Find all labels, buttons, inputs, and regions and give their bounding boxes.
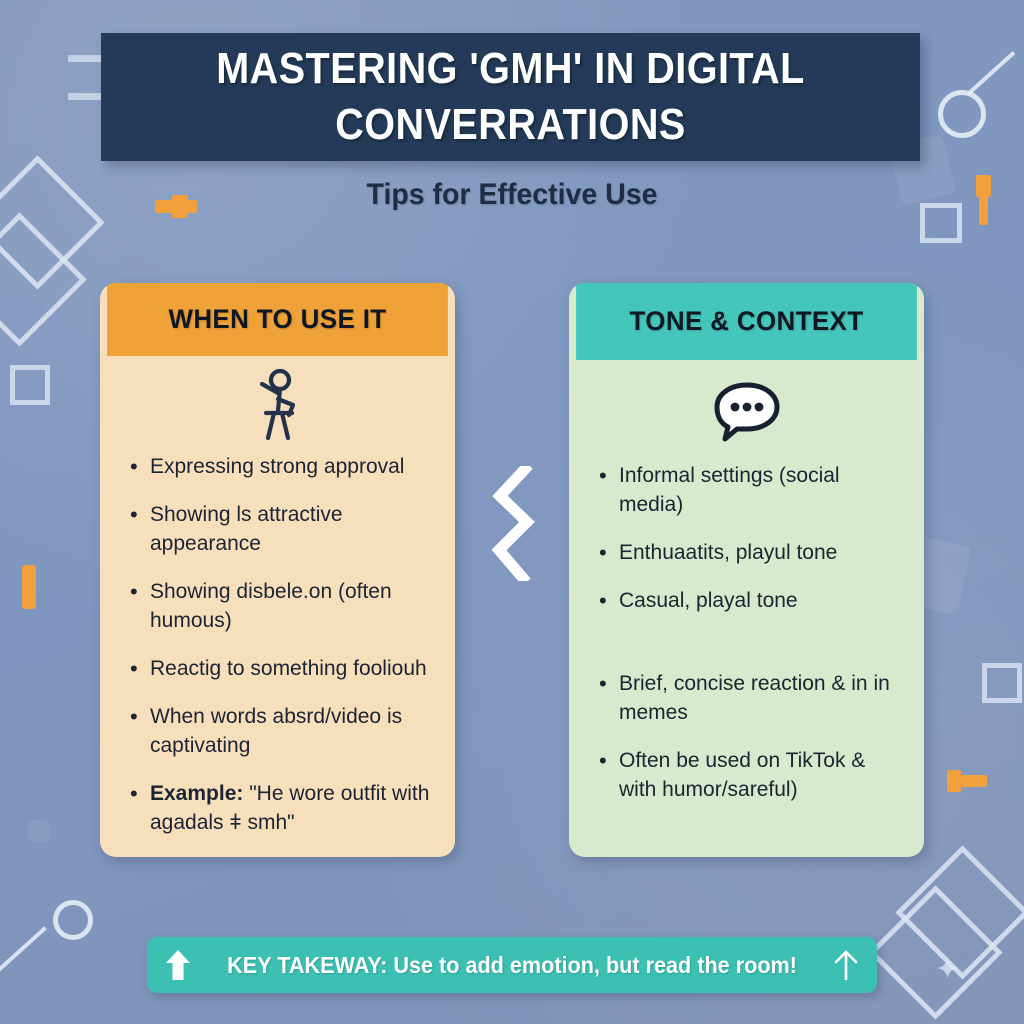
list-item: Expressing strong approval	[128, 453, 435, 482]
list-item: Casual, playal tone	[597, 587, 904, 616]
title-banner: MASTERING 'GMH' IN DIGITAL CONVERRATIONS	[101, 33, 920, 161]
bullet-text: Casual, playal tone	[619, 589, 798, 612]
decor-diamond-left-top	[0, 155, 105, 289]
bullet-text: Reactig to something fooliouh	[150, 657, 427, 680]
list-item-example: Example: "He wore outfit with agadals ǂ …	[128, 780, 435, 838]
card-right-header: TONE & CONTEXT	[576, 283, 917, 360]
list-item: Showing disbele.on (often humous)	[128, 578, 435, 636]
bullet-text: Often be used on TikTok & with humor/sar…	[619, 749, 865, 801]
decor-diamond-left-mid	[0, 212, 87, 346]
bullet-text: Enthuaatits, playul tone	[619, 541, 837, 564]
list-item: Often be used on TikTok & with humor/sar…	[597, 747, 904, 805]
decor-square-left	[10, 365, 50, 405]
zigzag-divider-icon	[487, 466, 547, 581]
list-item: Brief, concise reaction & in in memes	[597, 670, 904, 728]
card-left-header: WHEN TO USE IT	[107, 283, 448, 356]
decor-diamond-right-bottom-2	[868, 885, 1002, 1019]
bullet-text: Expressing strong approval	[150, 455, 404, 478]
decor-stick-top-right	[967, 51, 1016, 95]
bullet-text: Showing ls attractive appearance	[150, 503, 343, 555]
page-title: MASTERING 'GMH' IN DIGITAL CONVERRATIONS	[142, 41, 879, 154]
list-item: Enthuaatits, playul tone	[597, 539, 904, 568]
key-takeaway-text: KEY TAKEWAY: Use to add emotion, but rea…	[227, 952, 797, 979]
decor-orange-bar-left	[22, 565, 36, 609]
page-subtitle: Tips for Effective Use	[26, 178, 999, 212]
bullet-text: Showing disbele.on (often humous)	[150, 580, 392, 632]
bullet-text: When words absrd/video is captivating	[150, 705, 402, 757]
decor-circle-bottom-left	[53, 900, 93, 940]
decor-square-right-mid	[982, 663, 1022, 703]
bullet-text: Informal settings (social media)	[619, 464, 840, 516]
card-when-to-use-it: WHEN TO USE IT Expressing strong approva…	[100, 283, 455, 857]
decor-stick-bottom-left	[0, 926, 47, 977]
card-tone-and-context: TONE & CONTEXT Informal settings (social…	[569, 283, 924, 857]
list-item: Reactig to something fooliouh	[128, 655, 435, 684]
bullet-text: Brief, concise reaction & in in memes	[619, 672, 890, 724]
infographic-canvas: ✦ MASTERING 'GMH' IN DIGITAL CONVERRATIO…	[0, 0, 1024, 1024]
right-bullet-list: Informal settings (social media) Enthuaa…	[569, 462, 924, 857]
key-takeaway-banner: KEY TAKEWAY: Use to add emotion, but rea…	[147, 937, 877, 993]
decor-sparkle-right: ✦	[935, 955, 960, 985]
decor-circle-top-right	[938, 90, 986, 138]
list-item: When words absrd/video is captivating	[128, 703, 435, 761]
arrow-up-filled-icon	[165, 949, 191, 981]
bullet-lead: Example:	[150, 782, 243, 805]
decor-orange-bar-right-head	[947, 770, 961, 792]
speech-bubble-icon	[569, 360, 924, 462]
left-bullet-list: Expressing strong approval Showing ls at…	[100, 453, 455, 857]
decor-orange-bar-right	[947, 775, 987, 787]
decor-soft-block-left	[28, 820, 50, 842]
list-item: Informal settings (social media)	[597, 462, 904, 520]
arrow-up-outline-icon	[833, 949, 859, 981]
dancing-person-icon	[100, 356, 455, 453]
list-item: Showing ls attractive appearance	[128, 501, 435, 559]
decor-diamond-right-bottom	[895, 845, 1024, 979]
